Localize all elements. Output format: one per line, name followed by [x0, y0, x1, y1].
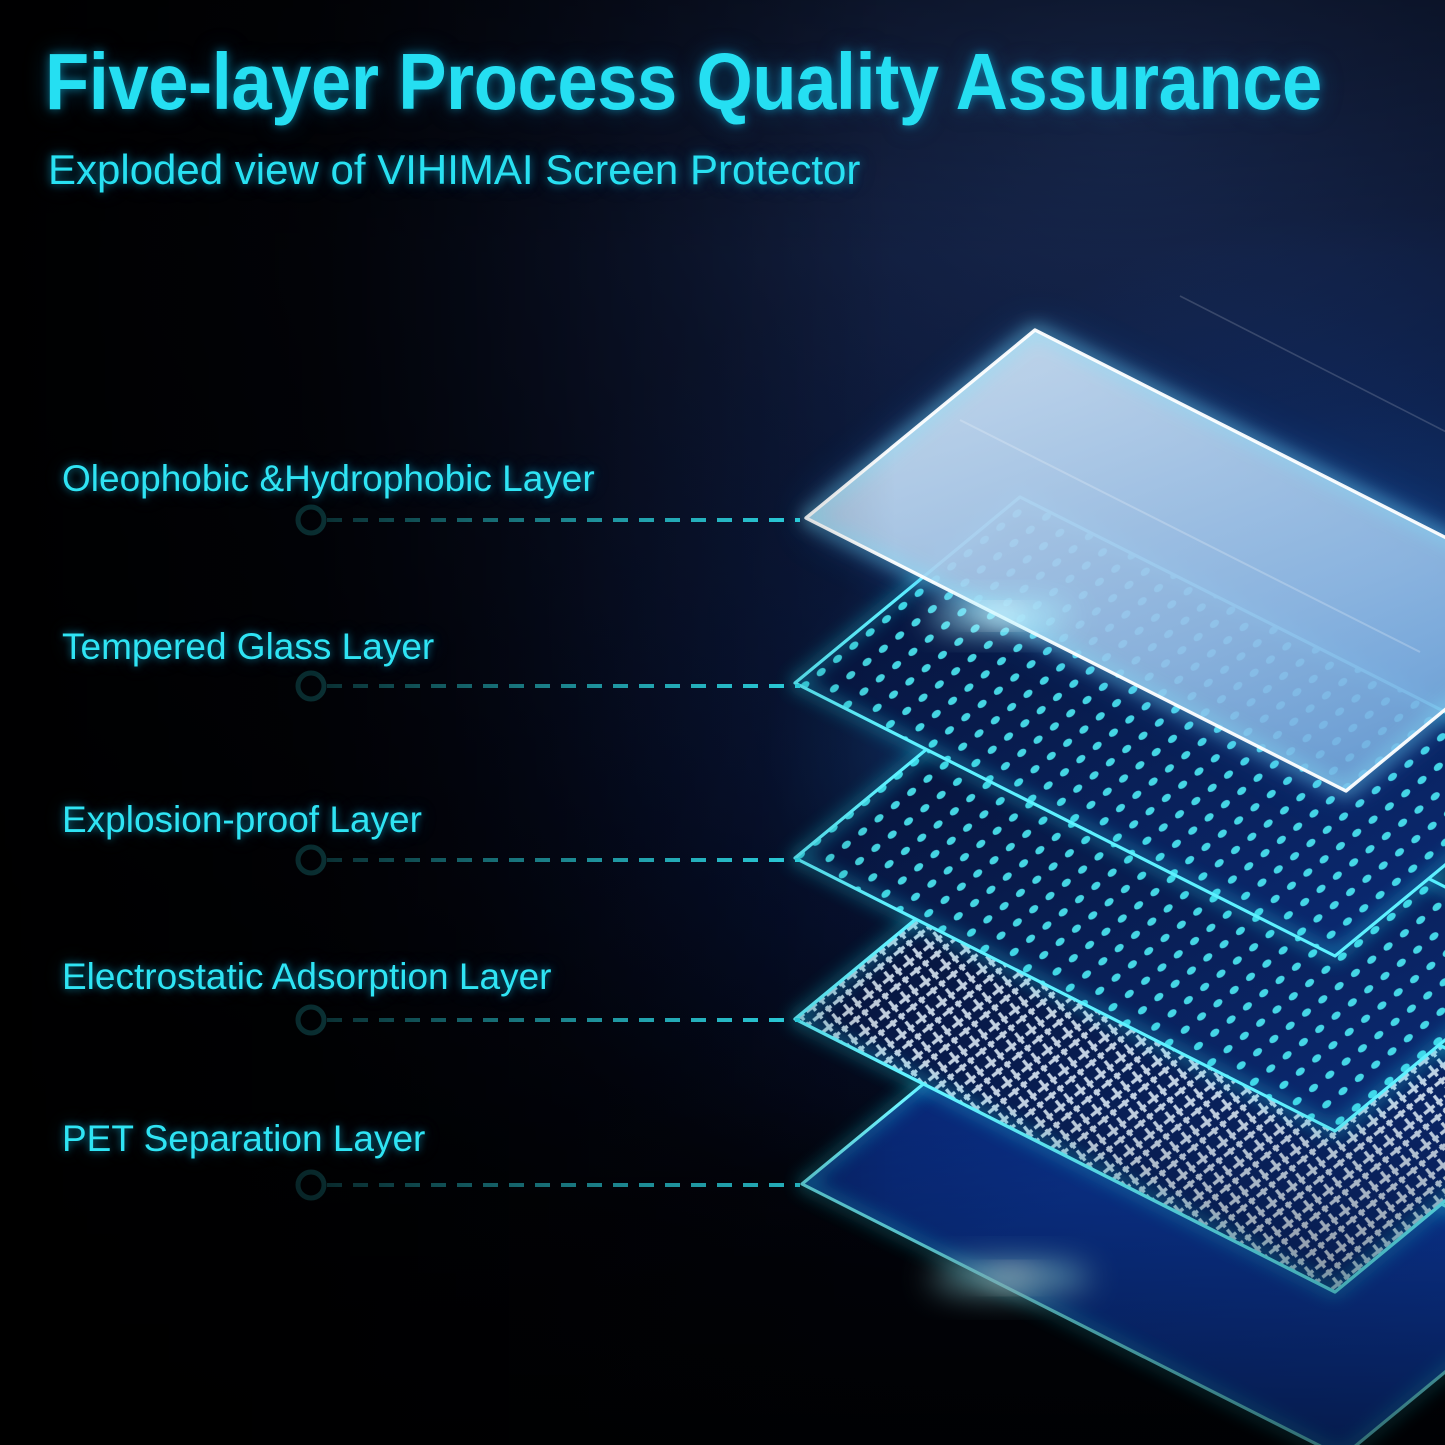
callout-marker-pet-separation[interactable] [298, 1172, 324, 1198]
leader-line-explosion-proof [298, 847, 800, 873]
page-subtitle: Exploded view of VIHIMAI Screen Protecto… [48, 146, 1345, 194]
leader-line-tempered-glass [298, 673, 800, 699]
leader-lines [298, 507, 800, 1198]
leader-line-pet-separation [298, 1172, 800, 1198]
callout-marker-electrostatic-adsorption[interactable] [298, 1007, 324, 1033]
exploded-view-infographic: Five-layer Process Quality Assurance Exp… [0, 0, 1445, 1445]
exploded-layers-illustration [0, 0, 1445, 1445]
leader-line-oleophobic [298, 507, 800, 533]
callout-label-oleophobic: Oleophobic &Hydrophobic Layer [62, 458, 595, 500]
callout-label-explosion-proof: Explosion-proof Layer [62, 799, 422, 841]
leader-line-electrostatic-adsorption [298, 1007, 800, 1033]
callout-marker-oleophobic[interactable] [298, 507, 324, 533]
header: Five-layer Process Quality Assurance Exp… [45, 40, 1345, 194]
callout-label-tempered-glass: Tempered Glass Layer [62, 626, 434, 668]
callout-label-electrostatic-adsorption: Electrostatic Adsorption Layer [62, 956, 551, 998]
callout-marker-tempered-glass[interactable] [298, 673, 324, 699]
page-title: Five-layer Process Quality Assurance [45, 40, 1222, 124]
callout-marker-explosion-proof[interactable] [298, 847, 324, 873]
callout-label-pet-separation: PET Separation Layer [62, 1118, 425, 1160]
